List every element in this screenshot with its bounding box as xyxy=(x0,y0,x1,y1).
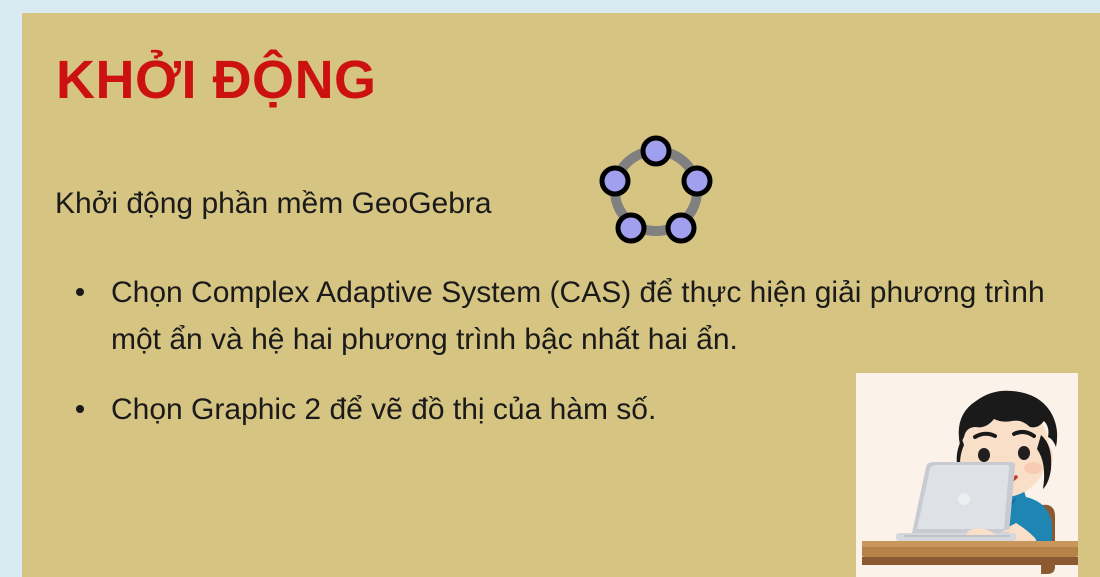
geogebra-logo-icon xyxy=(596,129,716,249)
intro-text: Khởi động phần mềm GeoGebra xyxy=(55,185,492,223)
page-title: KHỞI ĐỘNG xyxy=(56,51,377,109)
slide-frame: KHỞI ĐỘNG Khởi động phần mềm GeoGebra Ch… xyxy=(0,0,1100,577)
bullet-dot-icon xyxy=(76,288,84,296)
geogebra-logo xyxy=(596,129,716,249)
boy-using-laptop-illustration xyxy=(856,373,1078,577)
bullet-text: Chọn Graphic 2 để vẽ đồ thị của hàm số. xyxy=(111,393,656,426)
bullet-text: Chọn Complex Adaptive System (CAS) để th… xyxy=(111,276,1045,356)
bullet-dot-icon xyxy=(76,405,84,413)
slide-canvas: KHỞI ĐỘNG Khởi động phần mềm GeoGebra Ch… xyxy=(22,13,1100,577)
boy-using-laptop-image xyxy=(856,373,1078,577)
list-item: Chọn Complex Adaptive System (CAS) để th… xyxy=(55,269,1095,364)
